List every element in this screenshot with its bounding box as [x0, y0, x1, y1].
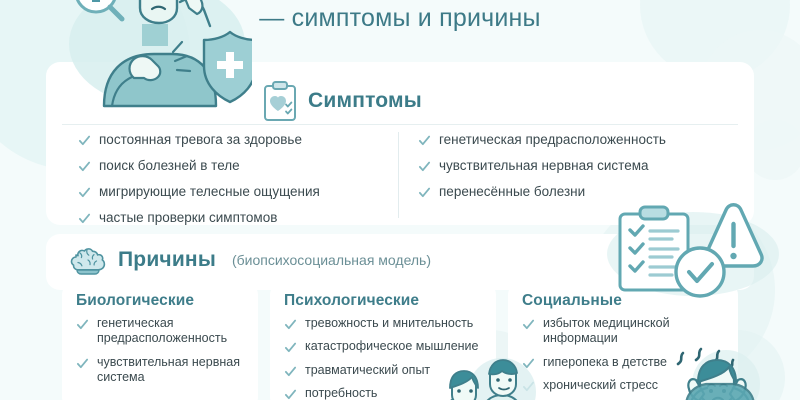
list-item: поиск болезней в теле [78, 158, 378, 175]
page-title: — симптомы и причины [0, 4, 800, 33]
symptoms-header-divider [62, 124, 738, 125]
social-column-title: Социальные [522, 292, 622, 310]
symptoms-left-list: постоянная тревога за здоровье поиск бол… [78, 132, 378, 236]
check-icon [78, 134, 91, 147]
biological-causes-list: генетическая предрасположенность чувстви… [76, 316, 248, 393]
list-item: чувствительная нервная система [418, 158, 718, 175]
list-item: хронический стресс [522, 378, 728, 393]
check-icon [418, 186, 431, 199]
psychological-column-title: Психологические [284, 292, 419, 310]
list-item-label: поиск болезней в теле [99, 158, 240, 175]
check-icon [284, 341, 297, 354]
check-icon [284, 318, 297, 331]
symptoms-column-divider [398, 132, 399, 218]
check-icon [522, 318, 535, 331]
check-icon [284, 365, 297, 378]
list-item-label: генетическая предрасположенность [97, 316, 248, 347]
list-item: постоянная тревога за здоровье [78, 132, 378, 149]
list-item: перенесённые болезни [418, 184, 718, 201]
check-icon [522, 357, 535, 370]
list-item: мигрирующие телесные ощущения [78, 184, 378, 201]
biological-column-title: Биологические [76, 292, 194, 310]
check-icon [418, 160, 431, 173]
list-item: тревожность и мнительность [284, 316, 488, 331]
list-item-label: чувствительная нервная система [439, 158, 649, 175]
list-item-label: избыток медицинской информации [543, 316, 728, 347]
list-item: катастрофическое мышление [284, 339, 488, 354]
symptoms-heading: Симптомы [308, 89, 422, 113]
psychological-causes-list: тревожность и мнительность катастрофичес… [284, 316, 488, 400]
causes-section-header: Причины (биопсихосоциальная модель) [68, 243, 431, 277]
check-icon [284, 388, 297, 400]
list-item-label: катастрофическое мышление [305, 339, 479, 354]
list-item-label: потребность [305, 386, 377, 400]
clipboard-heart-icon [262, 80, 298, 122]
check-icon [76, 357, 89, 370]
social-causes-list: избыток медицинской информации гиперопек… [522, 316, 728, 400]
list-item: потребность [284, 386, 488, 400]
list-item: чувствительная нервная система [76, 355, 248, 386]
brain-icon [68, 243, 108, 277]
list-item-label: постоянная тревога за здоровье [99, 132, 302, 149]
list-item-label: частые проверки симптомов [99, 210, 277, 227]
symptoms-right-list: генетическая предрасположенность чувстви… [418, 132, 718, 210]
list-item: частые проверки симптомов [78, 210, 378, 227]
list-item: травматический опыт [284, 363, 488, 378]
list-item-label: генетическая предрасположенность [439, 132, 666, 149]
infographic-page: — симптомы и причины Симптомы постоянная… [0, 0, 800, 400]
list-item-label: тревожность и мнительность [305, 316, 473, 331]
check-icon [522, 380, 535, 393]
list-item-label: гиперопека в детстве [543, 355, 667, 370]
check-icon [418, 134, 431, 147]
list-item-label: хронический стресс [543, 378, 658, 393]
list-item-label: перенесённые болезни [439, 184, 585, 201]
list-item: гиперопека в детстве [522, 355, 728, 370]
list-item-label: мигрирующие телесные ощущения [99, 184, 320, 201]
check-icon [76, 318, 89, 331]
causes-subheading: (биопсихосоциальная модель) [232, 252, 431, 268]
list-item-label: чувствительная нервная система [97, 355, 248, 386]
check-icon [78, 212, 91, 225]
check-icon [78, 160, 91, 173]
check-icon [78, 186, 91, 199]
causes-heading: Причины [118, 248, 216, 272]
symptoms-section-header: Симптомы [262, 80, 422, 122]
list-item-label: травматический опыт [305, 363, 430, 378]
list-item: генетическая предрасположенность [76, 316, 248, 347]
list-item: генетическая предрасположенность [418, 132, 718, 149]
list-item: избыток медицинской информации [522, 316, 728, 347]
page-title-text: — симптомы и причины [259, 4, 540, 32]
